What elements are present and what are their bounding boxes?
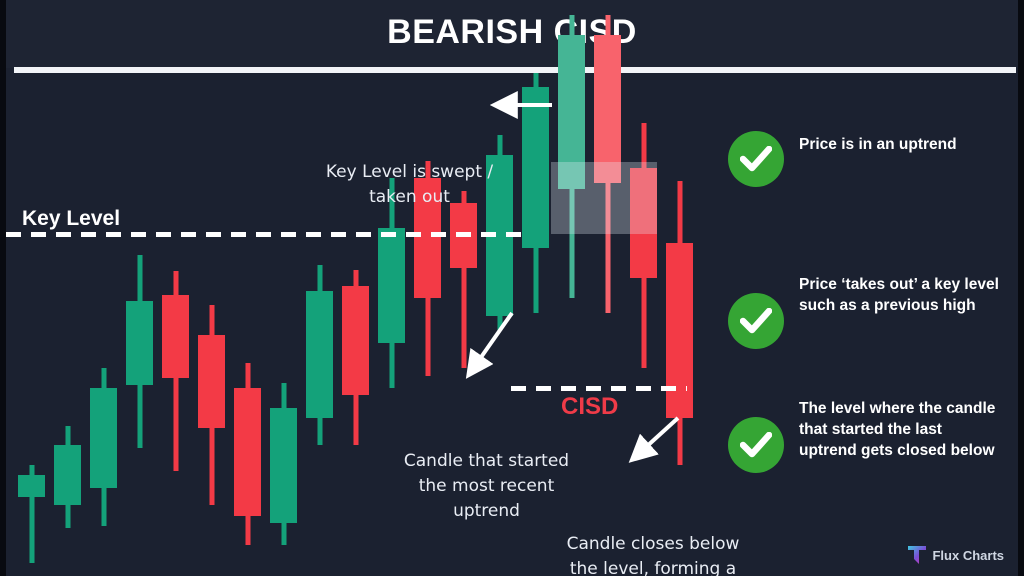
checklist-item-1: Price ‘takes out’ a key level such as a …	[728, 271, 999, 349]
candle-4-down	[162, 271, 189, 471]
check-icon	[728, 293, 784, 349]
candle-body	[342, 286, 369, 395]
candle-8-up	[306, 265, 333, 445]
candle-1-up	[54, 426, 81, 528]
logo-text: Flux Charts	[932, 548, 1004, 563]
checklist-item-label: The level where the candle that started …	[799, 395, 999, 461]
annotation-sweep: Key Level is swept / taken out	[317, 160, 502, 210]
candle-2-up	[90, 368, 117, 526]
key-level-label: Key Level	[22, 207, 120, 231]
check-icon	[728, 131, 784, 187]
candle-body	[198, 335, 225, 428]
candle-body	[306, 291, 333, 418]
candle-body	[162, 295, 189, 378]
candle-body	[594, 35, 621, 183]
candle-body	[18, 475, 45, 497]
candle-body	[126, 301, 153, 385]
candle-6-down	[234, 363, 261, 545]
infographic-page: BEARISH CISD Key Level CISD Key Level is…	[0, 0, 1024, 576]
annotation-close-below: Candle closes below the level, forming a…	[558, 532, 748, 576]
checklist-item-0: Price is in an uptrend	[728, 131, 999, 187]
candle-body	[378, 228, 405, 343]
candle-12-down	[450, 191, 477, 368]
key-level-dashed-line	[6, 232, 525, 237]
candle-body	[54, 445, 81, 505]
checklist-item-label: Price ‘takes out’ a key level such as a …	[799, 271, 999, 316]
candle-18-down	[666, 181, 693, 465]
checklist-item-2: The level where the candle that started …	[728, 395, 999, 473]
flux-charts-logo: Flux Charts	[907, 544, 1004, 566]
flux-charts-logo-icon	[907, 544, 927, 566]
candle-body	[90, 388, 117, 488]
candle-body	[522, 87, 549, 248]
candle-0-up	[18, 465, 45, 563]
candle-body	[666, 243, 693, 418]
candle-7-up	[270, 383, 297, 545]
candle-15-up	[558, 15, 585, 298]
candle-3-up	[126, 255, 153, 448]
candle-14-up	[522, 73, 549, 313]
page-title: BEARISH CISD	[6, 13, 1018, 52]
annotation-uptrend-candle: Candle that started the most recent uptr…	[394, 449, 579, 524]
candle-17-down	[630, 123, 657, 368]
cisd-dashed-line	[511, 386, 687, 391]
candle-body	[234, 388, 261, 516]
candle-5-down	[198, 305, 225, 505]
candle-body	[270, 408, 297, 523]
sweep-highlight-box	[551, 162, 657, 234]
cisd-label: CISD	[561, 393, 618, 421]
checklist-item-label: Price is in an uptrend	[799, 131, 999, 155]
check-icon	[728, 417, 784, 473]
candle-9-down	[342, 270, 369, 445]
